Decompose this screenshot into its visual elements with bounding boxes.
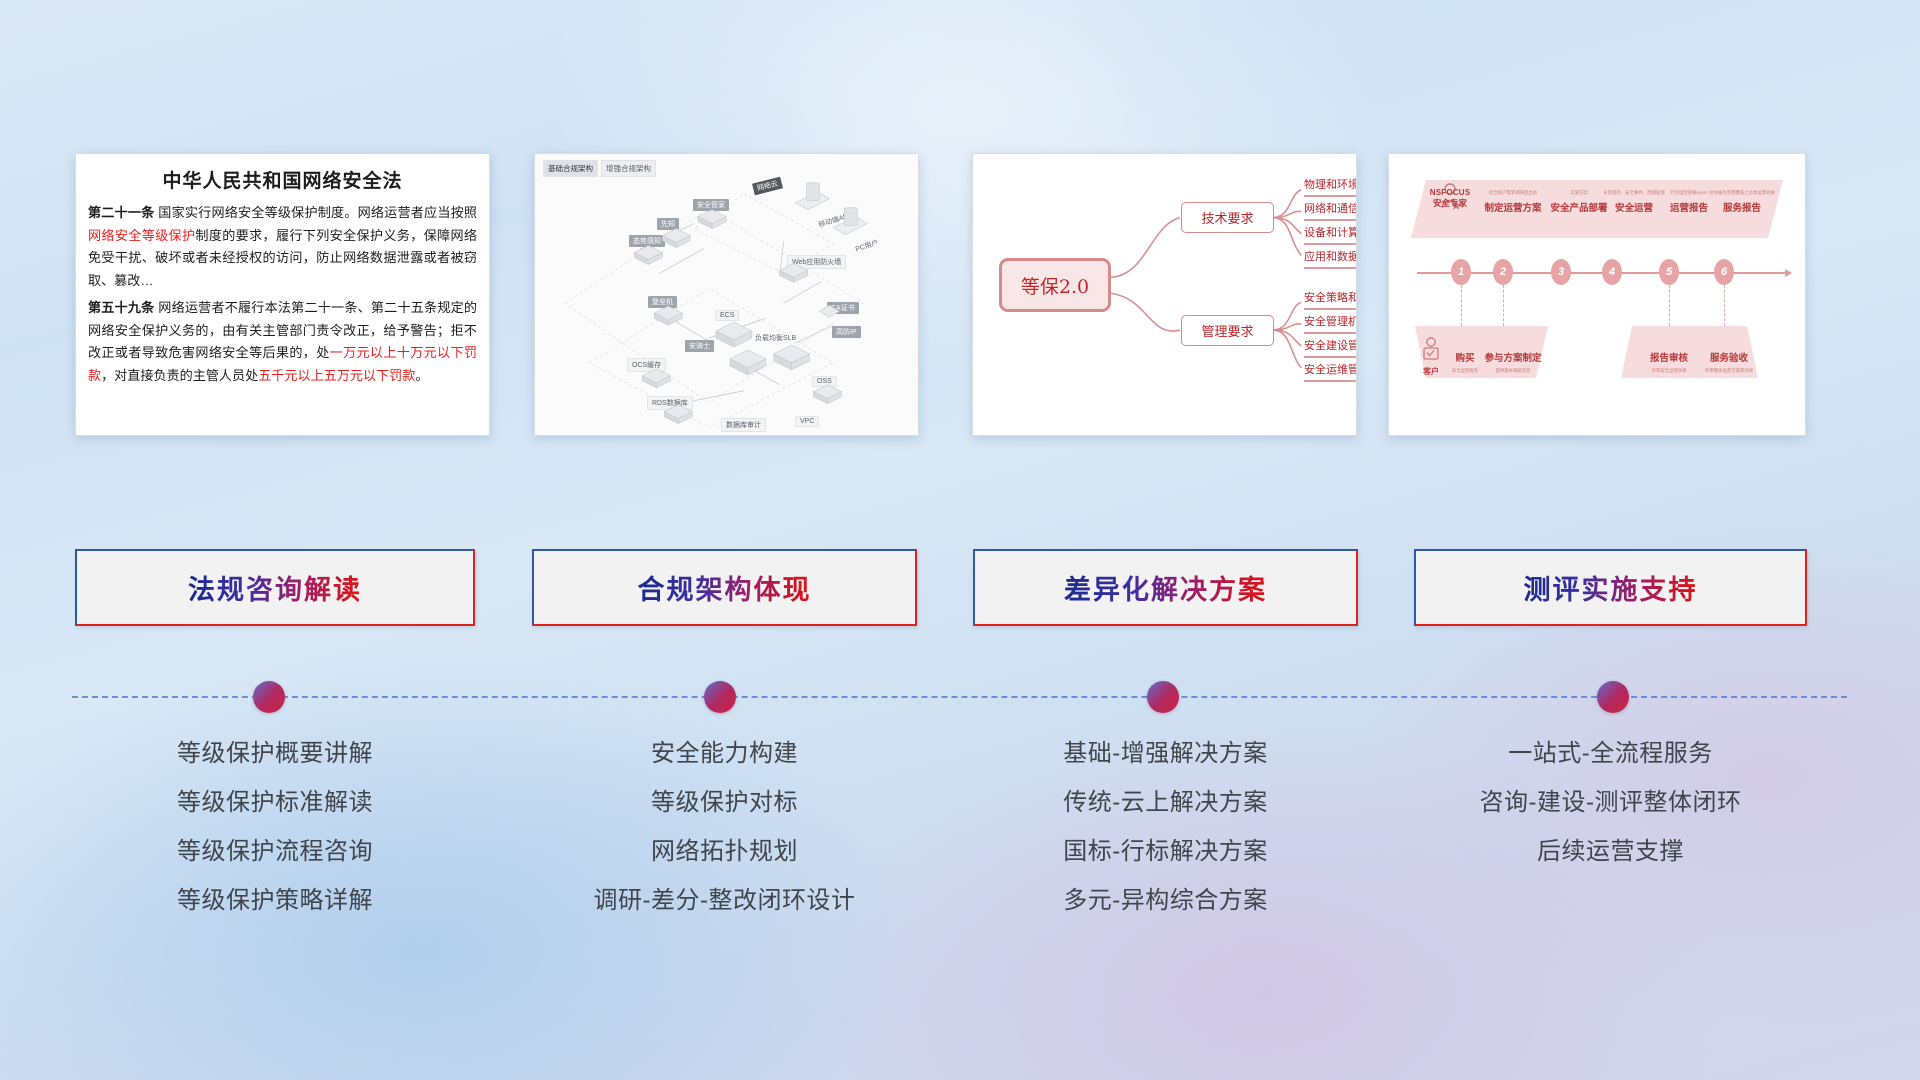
process-bottom-step-1-sub: 安全运营服务 (1445, 368, 1485, 374)
process-canvas: NSFOCUS 安全专家 结合客户需求调研后出具 制定运营方案 实施方案 安全产… (1389, 154, 1805, 435)
process-bottom-step-1: 购买 安全运营服务 (1445, 350, 1485, 374)
customer-person-icon (1421, 336, 1441, 366)
list-item: 多元-异构综合方案 (973, 889, 1358, 913)
card-law-text: 中华人民共和国网络安全法 第二十一条 国家实行网络安全等级保护制度。网络运营者应… (75, 153, 490, 436)
process-top-step-5: 总体服务范围覆盖之总本运营效果 服务报告 (1707, 190, 1777, 214)
card-service-process: NSFOCUS 安全专家 结合客户需求调研后出具 制定运营方案 实施方案 安全产… (1388, 153, 1806, 436)
process-number-5: 5 (1659, 259, 1679, 285)
heading-box-regulation-consulting[interactable]: 法规咨询解读 (75, 549, 475, 626)
law-article-21-highlight: 网络安全等级保护 (88, 228, 195, 243)
node-rds-database: RDS数据库 (647, 396, 693, 410)
card-mindmap: 等保2.0 技术要求 物理和环境安全 网络和通信安全 设备和计算安全 应用和数据… (972, 153, 1357, 436)
node-database-audit: 数据库审计 (721, 418, 766, 432)
node-anqishi: 安骑士 (685, 340, 714, 352)
heading-label-3: 差异化解决方案 (1064, 568, 1267, 607)
node-load-balancer: 负载均衡SLB (751, 332, 800, 344)
timeline-dot-2 (704, 681, 736, 713)
node-ecs: ECS (715, 310, 739, 321)
list-item: 国标-行标解决方案 (973, 840, 1358, 864)
list-item: 等级保护标准解读 (75, 791, 475, 815)
node-web-firewall: Web应用防火墙 (787, 255, 846, 269)
process-customer-label: 客户 (1419, 366, 1443, 377)
mindmap-leaf-construction-mgmt: 安全建设管理 (1304, 337, 1357, 358)
law-article-59-highlight-2: 五千元以上五万元以下罚款 (258, 368, 415, 383)
mindmap-canvas: 等保2.0 技术要求 物理和环境安全 网络和通信安全 设备和计算安全 应用和数据… (973, 154, 1356, 435)
process-bottom-step-3-main: 报告审核 (1641, 350, 1697, 364)
feature-list-assessment-support: 一站式-全流程服务 咨询-建设-测评整体闭环 后续运营支撑 (1414, 742, 1807, 889)
timeline-dashed-line (72, 696, 1847, 698)
feature-list-compliance-architecture: 安全能力构建 等级保护对标 网络拓扑规划 调研-差分-整改闭环设计 (532, 742, 917, 938)
node-bastion-host: 堡垒机 (648, 296, 677, 308)
node-xianzhi: 先知 (657, 218, 679, 230)
process-bottom-step-1-main: 购买 (1445, 350, 1485, 364)
mindmap-leaf-network-comm: 网络和通信安全 (1304, 200, 1357, 221)
process-number-4: 4 (1602, 259, 1622, 285)
list-item: 等级保护对标 (532, 791, 917, 815)
slide-canvas: 中华人民共和国网络安全法 第二十一条 国家实行网络安全等级保护制度。网络运营者应… (0, 0, 1920, 1080)
expert-brand-line2: 安全专家 (1419, 197, 1481, 209)
timeline-dot-1 (253, 681, 285, 713)
process-top-step-5-main: 服务报告 (1707, 200, 1777, 214)
timeline-dot-3 (1147, 681, 1179, 713)
heading-box-assessment-support[interactable]: 测评实施支持 (1414, 549, 1807, 626)
architecture-connectors (535, 154, 918, 436)
feature-list-regulation-consulting: 等级保护概要讲解 等级保护标准解读 等级保护流程咨询 等级保护策略详解 (75, 742, 475, 938)
list-item: 咨询-建设-测评整体闭环 (1414, 791, 1807, 815)
list-item: 安全能力构建 (532, 742, 917, 766)
node-ca-certificate: CA证书 (827, 302, 859, 314)
list-item: 等级保护概要讲解 (75, 742, 475, 766)
law-article-59: 第五十九条 网络运营者不履行本法第二十一条、第二十五条规定的网络安全保护义务的，… (88, 297, 477, 387)
process-top-step-1: 结合客户需求调研后出具 制定运营方案 (1475, 190, 1551, 214)
process-bottom-step-2-main: 参与方案制定 (1483, 350, 1543, 364)
node-oss: OSS (812, 376, 837, 387)
process-number-1: 1 (1451, 259, 1471, 285)
process-link-5 (1669, 285, 1670, 326)
node-security-butler: 安全管家 (693, 199, 729, 211)
mindmap-root: 等保2.0 (999, 258, 1111, 312)
list-item: 传统-云上解决方案 (973, 791, 1358, 815)
list-item: 等级保护策略详解 (75, 889, 475, 913)
list-item: 调研-差分-整改闭环设计 (532, 889, 917, 913)
law-article-21-text-a: 国家实行网络安全等级保护制度。网络运营者应当按照 (154, 205, 477, 220)
process-bottom-step-4-sub: 评审整体运营方案和效果 (1701, 368, 1757, 374)
law-article-21: 第二十一条 国家实行网络安全等级保护制度。网络运营者应当按照网络安全等级保护制度… (88, 202, 477, 292)
process-bottom-step-3-sub: 评审安全运营效果 (1641, 368, 1697, 374)
mindmap-leaf-app-data: 应用和数据安全 (1304, 248, 1357, 269)
heading-label-2: 合规架构体现 (638, 568, 812, 607)
heading-label-4: 测评实施支持 (1524, 568, 1698, 607)
list-item: 一站式-全流程服务 (1414, 742, 1807, 766)
list-item: 基础-增强解决方案 (973, 742, 1358, 766)
process-bottom-step-3: 报告审核 评审安全运营效果 (1641, 350, 1697, 374)
law-body: 第二十一条 国家实行网络安全等级保护制度。网络运营者应当按照网络安全等级保护制度… (76, 202, 489, 387)
mindmap-leaf-device-compute: 设备和计算安全 (1304, 224, 1357, 245)
mindmap-leaf-policy-system: 安全策略和管理制度 (1304, 289, 1357, 310)
node-situational-awareness: 态势感知 (629, 235, 665, 247)
process-top-step-1-sub: 结合客户需求调研后出具 (1475, 190, 1551, 196)
list-item: 网络拓扑规划 (532, 840, 917, 864)
process-link-2 (1503, 285, 1504, 326)
process-link-1 (1461, 285, 1462, 326)
process-bottom-step-4: 服务验收 评审整体运营方案和效果 (1701, 350, 1757, 374)
card-architecture-diagram: 基础合规架构 增强合规架构 (534, 153, 919, 436)
process-bottom-step-4-main: 服务验收 (1701, 350, 1757, 364)
process-bottom-step-2-sub: 提供基本调研信息 (1483, 368, 1543, 374)
mindmap-leaf-org-personnel: 安全管理机构和人员 (1304, 313, 1357, 334)
node-vpc: VPC (795, 416, 819, 427)
mindmap-branch-technical: 技术要求 (1181, 202, 1274, 233)
law-article-21-label: 第二十一条 (88, 205, 154, 220)
list-item: 后续运营支撑 (1414, 840, 1807, 864)
timeline-dot-4 (1597, 681, 1629, 713)
process-number-3: 3 (1551, 259, 1571, 285)
law-title: 中华人民共和国网络安全法 (76, 154, 489, 202)
law-article-59-text-c: 。 (415, 368, 428, 383)
process-top-step-1-main: 制定运营方案 (1475, 200, 1551, 214)
heading-box-differentiated-solution[interactable]: 差异化解决方案 (973, 549, 1358, 626)
process-bottom-step-2: 参与方案制定 提供基本调研信息 (1483, 350, 1543, 374)
mindmap-leaf-physical-env: 物理和环境安全 (1304, 176, 1357, 197)
process-link-6 (1724, 285, 1725, 326)
expert-brand: NSFOCUS 安全专家 (1419, 188, 1481, 209)
law-article-59-label: 第五十九条 (88, 300, 154, 315)
heading-label-1: 法规咨询解读 (188, 568, 362, 607)
list-item: 等级保护流程咨询 (75, 840, 475, 864)
process-number-6: 6 (1714, 259, 1734, 285)
process-top-step-5-sub: 总体服务范围覆盖之总本运营效果 (1707, 190, 1777, 196)
expert-brand-line1: NSFOCUS (1419, 188, 1481, 197)
architecture-canvas: 基础合规架构 增强合规架构 (535, 154, 918, 435)
mindmap-leaf-ops-mgmt: 安全运维管理 (1304, 361, 1357, 382)
law-article-59-text-b: ，对直接负责的主管人员处 (101, 368, 258, 383)
heading-box-compliance-architecture[interactable]: 合规架构体现 (532, 549, 917, 626)
mindmap-branch-management: 管理要求 (1181, 315, 1274, 346)
feature-list-differentiated-solution: 基础-增强解决方案 传统-云上解决方案 国标-行标解决方案 多元-异构综合方案 (973, 742, 1358, 938)
node-ocs-cache: OCS缓存 (627, 358, 666, 372)
process-number-2: 2 (1493, 259, 1513, 285)
node-anti-ddos-ip: 高防IP (832, 326, 861, 338)
